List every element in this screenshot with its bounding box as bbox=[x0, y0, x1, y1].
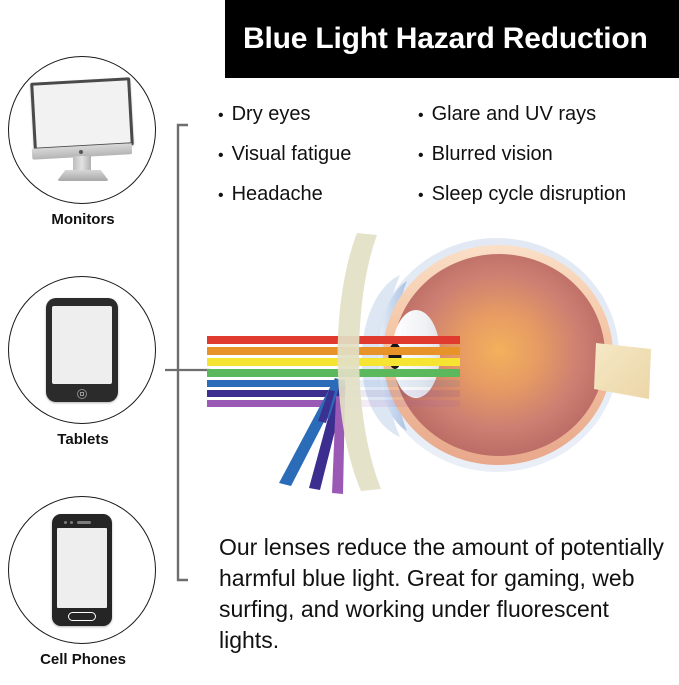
tablet-screen bbox=[52, 306, 112, 384]
list-item: • Dry eyes bbox=[218, 95, 418, 135]
bullet-icon: • bbox=[418, 97, 424, 135]
symptom-label: Visual fatigue bbox=[232, 135, 352, 173]
phone-sensor-icon bbox=[64, 521, 67, 524]
symptom-column-left: • Dry eyes • Visual fatigue • Headache bbox=[218, 95, 418, 215]
symptom-label: Dry eyes bbox=[232, 95, 311, 133]
list-item: • Sleep cycle disruption bbox=[418, 175, 679, 215]
ray-green bbox=[207, 369, 460, 377]
ray-violet-blocked-ghost bbox=[345, 400, 460, 407]
phone-speaker-icon bbox=[77, 521, 91, 524]
infographic-page: Blue Light Hazard Reduction • Dry eyes •… bbox=[0, 0, 679, 685]
phone-camera-icon bbox=[70, 521, 73, 524]
bullet-icon: • bbox=[418, 137, 424, 175]
ray-blue bbox=[207, 380, 345, 387]
product-description: Our lenses reduce the amount of potentia… bbox=[219, 532, 674, 656]
bullet-icon: • bbox=[218, 97, 224, 135]
phone-screen bbox=[57, 528, 107, 608]
device-label: Cell Phones bbox=[8, 651, 158, 668]
list-item: • Blurred vision bbox=[418, 135, 679, 175]
phone-home-button-icon bbox=[68, 612, 96, 621]
symptom-label: Headache bbox=[232, 175, 323, 213]
monitor-stand-base bbox=[57, 170, 109, 181]
device-circle bbox=[8, 496, 156, 644]
symptom-label: Glare and UV rays bbox=[432, 95, 597, 133]
cell-phone-icon bbox=[52, 514, 112, 626]
ray-indigo-blocked-ghost bbox=[345, 390, 460, 397]
page-title: Blue Light Hazard Reduction bbox=[225, 22, 648, 56]
device-circle bbox=[8, 56, 156, 204]
device-item-monitors: Monitors bbox=[8, 56, 158, 228]
title-bar: Blue Light Hazard Reduction bbox=[225, 0, 679, 78]
ray-indigo bbox=[207, 390, 345, 397]
bullet-icon: • bbox=[218, 137, 224, 175]
device-label: Tablets bbox=[8, 431, 158, 448]
symptom-label: Sleep cycle disruption bbox=[432, 175, 627, 213]
bullet-icon: • bbox=[218, 177, 224, 215]
ray-orange bbox=[207, 347, 460, 355]
ray-red bbox=[207, 336, 460, 344]
list-item: • Glare and UV rays bbox=[418, 95, 679, 135]
light-eye-diagram bbox=[185, 225, 679, 500]
bullet-icon: • bbox=[418, 177, 424, 215]
device-item-cell-phones: Cell Phones bbox=[8, 496, 158, 668]
ray-blue-blocked-ghost bbox=[345, 380, 460, 387]
device-circle bbox=[8, 276, 156, 424]
symptom-column-right: • Glare and UV rays • Blurred vision • S… bbox=[418, 95, 679, 215]
device-item-tablets: Tablets bbox=[8, 276, 158, 448]
symptom-list: • Dry eyes • Visual fatigue • Headache •… bbox=[218, 95, 679, 220]
tablet-icon bbox=[46, 298, 118, 402]
list-item: • Visual fatigue bbox=[218, 135, 418, 175]
device-label: Monitors bbox=[8, 211, 158, 228]
tablet-home-button-icon bbox=[77, 389, 87, 399]
ray-yellow bbox=[207, 358, 460, 366]
monitor-icon bbox=[26, 78, 138, 182]
symptom-label: Blurred vision bbox=[432, 135, 553, 173]
monitor-screen bbox=[30, 77, 134, 150]
list-item: • Headache bbox=[218, 175, 418, 215]
